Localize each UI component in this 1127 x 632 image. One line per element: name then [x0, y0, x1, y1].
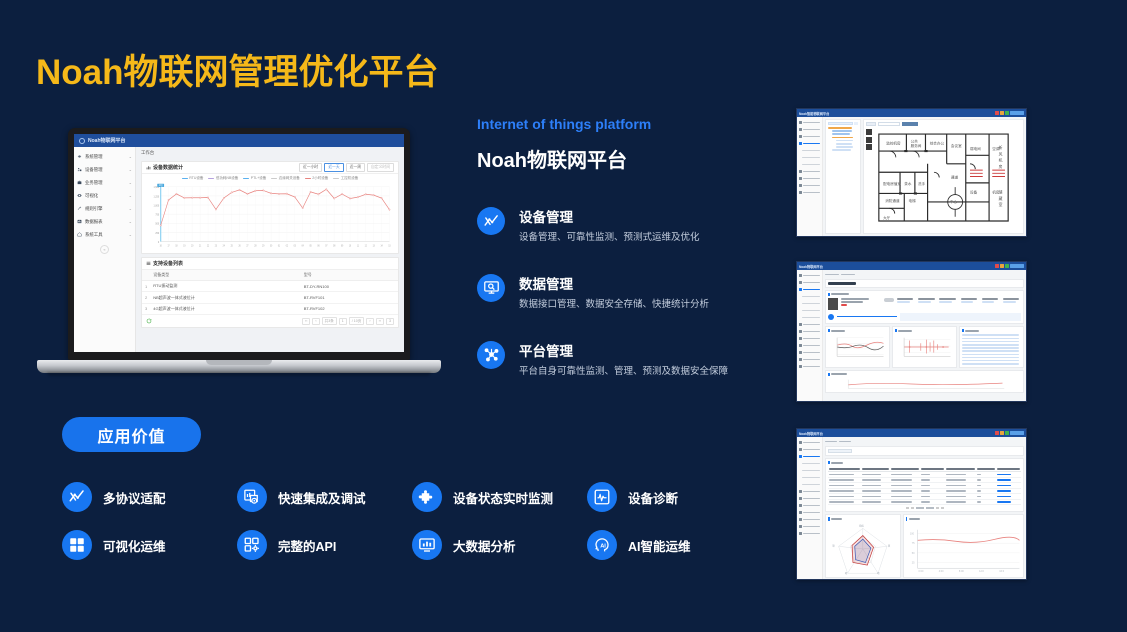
mini-line-chart	[828, 334, 887, 360]
svg-text:12: 12	[365, 245, 368, 247]
svg-text:19: 19	[183, 245, 186, 247]
screenshot-device-dashboard[interactable]: Noah物联网平台	[796, 261, 1027, 402]
device-table-panel: 支持设备列表 设备类型 型号	[141, 257, 399, 328]
sidebar-item-tools[interactable]: 系统工具 ⌄	[74, 228, 135, 241]
svg-text:01: 01	[278, 245, 281, 247]
svg-text:08: 08	[333, 245, 336, 247]
table-header-model: 型号	[301, 270, 398, 281]
row-model: BT-DY-RN100	[301, 281, 398, 292]
svg-text:02: 02	[286, 245, 289, 247]
svg-text:会议室: 会议室	[951, 143, 962, 148]
table-panel-title-group: 支持设备列表	[146, 260, 183, 267]
platform-eyebrow: Internet of things platform	[477, 116, 767, 132]
bottom-trend-card	[825, 370, 1024, 393]
screenshot-sidebar	[797, 270, 823, 401]
screenshot-title: Noah物联网平台	[799, 264, 823, 269]
nav-subrow[interactable]	[797, 314, 822, 321]
sidebar-label: 系统管理	[85, 154, 126, 160]
svg-text:28: 28	[254, 245, 257, 247]
page-input[interactable]: 1	[339, 318, 347, 325]
screenshot-title: Noah物联网平台	[799, 431, 823, 436]
mini-charts-row	[825, 326, 1024, 368]
svg-text:25: 25	[231, 245, 234, 247]
tree-panel	[825, 119, 861, 234]
page-title: Noah物联网管理优化平台	[36, 44, 439, 95]
nav-subrow[interactable]	[797, 307, 822, 314]
sidebar-item-business[interactable]: 业务管理 ⌄	[74, 176, 135, 189]
sidebar-label: 可视化	[85, 193, 126, 199]
app-body: 系统管理 ⌄ 设备管理 ⌄ 业务管理 ⌄	[74, 147, 404, 352]
log-list-card	[959, 326, 1024, 368]
card-title	[828, 517, 898, 520]
svg-text:750: 750	[155, 212, 159, 216]
svg-text:27: 27	[246, 245, 249, 247]
application-value-badge: 应用价值	[62, 417, 201, 452]
svg-text:24: 24	[223, 245, 226, 247]
nav-row-active[interactable]	[797, 453, 822, 460]
chart-panel-title: 设备数据统计	[153, 164, 183, 171]
nav-row[interactable]	[797, 495, 822, 502]
svg-text:50: 50	[911, 551, 914, 554]
svg-text:14: 14	[380, 245, 383, 247]
table-row[interactable]: 1 RTU振动监测 BT-DY-RN100	[142, 281, 398, 292]
svg-text:29: 29	[262, 245, 265, 247]
breadcrumb	[825, 439, 1024, 444]
svg-text:综合办公: 综合办公	[930, 141, 945, 146]
value-label: 快速集成及调试	[278, 488, 366, 507]
chevron-down-icon: ⌄	[129, 206, 132, 211]
chart-legend: RTU设备 低功耗NB设备 PTL+设备 边缘网关设备 2小时设备 工控机设备	[142, 174, 398, 181]
slide-root: Noah物联网管理优化平台 Noah物联网平台 系统管理 ⌄	[0, 0, 1127, 632]
nav-row[interactable]	[797, 321, 822, 328]
green-chip-icon	[1005, 264, 1009, 268]
svg-text:10: 10	[349, 245, 352, 247]
nav-row[interactable]	[797, 488, 822, 495]
svg-text:16:0: 16:0	[999, 570, 1004, 573]
platform-title: Noah物联网平台	[477, 144, 767, 173]
nav-row[interactable]	[797, 182, 822, 189]
chevron-down-icon: ⌄	[129, 167, 132, 172]
user-chip-icon	[1010, 264, 1024, 268]
pagination[interactable]	[828, 505, 1021, 509]
log-lines	[962, 334, 1021, 364]
breadcrumb	[825, 272, 1024, 277]
table-footer: ‹‹ ‹ 共3条 1 / 10页 › ›› 3	[142, 315, 398, 327]
svg-text:消防通道: 消防通道	[885, 198, 900, 203]
nav-row[interactable]	[797, 516, 822, 523]
floor-plan-canvas[interactable]: 监控机房公共服务间 综合办公会议室 配电房值班茶水洗手 消防通道电梯 大厅中心 …	[863, 119, 1024, 234]
nav-subrow[interactable]	[797, 293, 822, 300]
bottom-charts-row: 指标项项项项 0:004:008:0012:016:0 1007	[825, 514, 1024, 577]
card-title	[906, 517, 1021, 520]
card-title	[828, 373, 1021, 376]
nav-row[interactable]	[797, 272, 822, 279]
laptop-mockup: Noah物联网平台 系统管理 ⌄ 设备管理 ⌄	[37, 128, 441, 373]
nav-row[interactable]	[797, 335, 822, 342]
data-table-card	[825, 458, 1024, 512]
nav-row[interactable]	[797, 328, 822, 335]
row-type: NB超声波一体式液位计	[150, 292, 301, 303]
svg-text:11: 11	[357, 245, 360, 247]
svg-text:藏: 藏	[999, 196, 1003, 201]
svg-text:04: 04	[302, 245, 305, 247]
breadcrumb: 工作台	[136, 147, 404, 158]
table-header-index	[142, 270, 150, 281]
feature-device-management: 设备管理 设备管理、可靠性监测、预测式运维及优化	[477, 205, 767, 245]
value-label: 多协议适配	[103, 488, 166, 507]
row-type: 4G超声波一体式液位计	[150, 303, 301, 314]
screenshot-topbar: Noah物联网平台	[797, 429, 1026, 437]
breadcrumb-label: 工作台	[141, 150, 154, 156]
puzzle-icon	[412, 482, 442, 512]
app-title: Noah物联网平台	[88, 137, 126, 144]
nav-row[interactable]	[797, 189, 822, 196]
svg-text:22: 22	[207, 245, 210, 247]
screenshot-title: Noah智能物联网平台	[799, 111, 829, 116]
row-index: 2	[142, 292, 150, 303]
nav-row[interactable]	[797, 530, 822, 537]
svg-text:18: 18	[175, 245, 178, 247]
feature-data-management: 数据管理 数据接口管理、数据安全存储、快捷统计分析	[477, 272, 767, 312]
feature-text: 设备管理 设备管理、可靠性监测、预测式运维及优化	[519, 205, 700, 245]
nav-row-active[interactable]	[797, 140, 822, 147]
svg-text:监控机房: 监控机房	[886, 141, 901, 146]
nav-row[interactable]	[797, 446, 822, 453]
device-table: 设备类型 型号 1 RTU振动监测 BT-DY-RN100	[142, 270, 398, 315]
sidebar-label: 数据报表	[85, 219, 126, 225]
app-logo-icon	[79, 138, 85, 144]
svg-text:机: 机	[999, 158, 1003, 163]
card-title	[828, 293, 1021, 296]
svg-text:配电房值班: 配电房值班	[883, 181, 901, 186]
range-button-week[interactable]: 近一周	[346, 163, 365, 172]
value-item-big-data[interactable]: 大数据分析	[412, 530, 587, 560]
refresh-icon[interactable]	[146, 318, 152, 324]
nav-row[interactable]	[797, 363, 822, 370]
value-item-fast-integration[interactable]: 快速集成及调试	[237, 482, 412, 512]
page-last-button[interactable]: ››	[376, 318, 384, 325]
nav-row-active[interactable]	[797, 286, 822, 293]
red-chip-icon	[995, 431, 999, 435]
nav-row[interactable]	[797, 439, 822, 446]
line-chart: 02505007501,0001,2501,500161718192021222…	[142, 181, 398, 253]
orange-chip-icon	[1000, 431, 1004, 435]
table-row[interactable]: 3 4G超声波一体式液位计 BT-RVF102	[142, 303, 398, 314]
svg-text:30: 30	[270, 245, 273, 247]
page-next-button[interactable]: ›	[366, 318, 373, 325]
platform-info-column: Internet of things platform Noah物联网平台 设备…	[477, 116, 767, 405]
screenshot-topbar: Noah物联网平台	[797, 262, 1026, 270]
svg-text:75: 75	[911, 542, 914, 545]
red-chip-icon	[995, 111, 999, 115]
laptop-shadow	[47, 372, 431, 376]
chevron-down-icon: ⌄	[129, 232, 132, 237]
svg-text:07: 07	[325, 245, 328, 247]
sidebar-label: 业务管理	[85, 180, 126, 186]
chart-panel-header: 设备数据统计 近一小时 近一天 近一周 自定义时间	[142, 162, 398, 174]
screenshot-body: 指标项项项项 0:004:008:0012:016:0 1007	[797, 437, 1026, 579]
svg-text:洗手: 洗手	[918, 181, 926, 186]
pagination: ‹‹ ‹ 共3条 1 / 10页 › ›› 3	[302, 317, 394, 325]
svg-text:100: 100	[909, 532, 914, 535]
value-item-device-diagnosis[interactable]: 设备诊断	[587, 482, 762, 512]
svg-text:26: 26	[238, 245, 241, 247]
svg-text:项: 项	[832, 543, 835, 547]
orange-chip-icon	[1000, 264, 1004, 268]
bar-chart-icon	[146, 165, 151, 170]
orange-chip-icon	[1000, 111, 1004, 115]
nav-row[interactable]	[797, 502, 822, 509]
grid-icon	[62, 530, 92, 560]
bar-monitor-icon	[412, 530, 442, 560]
value-label: 完整的API	[278, 536, 336, 555]
green-chip-icon	[1005, 431, 1009, 435]
user-chip-icon	[1010, 111, 1024, 115]
card-title	[828, 461, 1021, 464]
window-controls	[995, 431, 1024, 435]
chevron-down-icon: ⌄	[129, 180, 132, 185]
screenshot-content: 监控机房公共服务间 综合办公会议室 配电房值班茶水洗手 消防通道电梯 大厅中心 …	[823, 117, 1026, 236]
chart-preview-icon	[237, 482, 267, 512]
nav-row[interactable]	[797, 356, 822, 363]
green-chip-icon	[1005, 111, 1009, 115]
window-controls	[995, 111, 1024, 115]
svg-text:0:00: 0:00	[918, 570, 923, 573]
trend-chart-card: 0:004:008:0012:016:0 100755025	[903, 514, 1024, 577]
blocks-gear-icon	[237, 530, 267, 560]
app-topbar: Noah物联网平台	[74, 134, 404, 147]
sidebar-item-reports[interactable]: 数据报表 ⌄	[74, 215, 135, 228]
svg-text:8:00: 8:00	[958, 570, 963, 573]
svg-text:风: 风	[999, 152, 1003, 156]
card-title	[895, 329, 954, 332]
briefcase-icon	[77, 180, 82, 185]
screenshot-body: 监控机房公共服务间 综合办公会议室 配电房值班茶水洗手 消防通道电梯 大厅中心 …	[797, 117, 1026, 236]
red-chip-icon	[995, 264, 999, 268]
nav-row[interactable]	[797, 175, 822, 182]
row-model: BT-RVF101	[301, 292, 398, 303]
nav-subrow[interactable]	[797, 460, 822, 467]
row-type: RTU振动监测	[150, 281, 301, 292]
tools-icon	[77, 232, 82, 237]
screenshot-topbar: Noah智能物联网平台	[797, 109, 1026, 117]
time-range-buttons: 近一小时 近一天 近一周 自定义时间	[299, 163, 394, 172]
value-label: 设备诊断	[628, 488, 678, 507]
svg-text:12:0: 12:0	[979, 570, 984, 573]
table-header-type: 设备类型	[150, 270, 301, 281]
mini-spike-chart	[895, 334, 954, 360]
card-title	[962, 329, 1021, 332]
sidebar-label: 规则引擎	[85, 206, 126, 212]
nav-row[interactable]	[797, 349, 822, 356]
table-row[interactable]: 2 NB超声波一体式液位计 BT-RVF101	[142, 292, 398, 303]
nav-row[interactable]	[797, 119, 822, 126]
wrench-icon	[77, 206, 82, 211]
nav-row[interactable]	[797, 279, 822, 286]
page-count-label: 共3条	[322, 317, 337, 325]
svg-text:16: 16	[160, 245, 163, 247]
list-icon	[146, 261, 151, 266]
svg-text:储: 储	[999, 189, 1003, 194]
range-button-custom[interactable]: 自定义时间	[367, 163, 394, 172]
sidebar-label: 系统工具	[85, 232, 126, 238]
laptop-screen: Noah物联网平台 系统管理 ⌄ 设备管理 ⌄	[74, 134, 404, 352]
feature-platform-management: 平台管理 平台自身可靠性监测、管理、预测及数据安全保障	[477, 339, 767, 379]
svg-text:16日: 16日	[159, 184, 163, 187]
value-item-visual-ops[interactable]: 可视化运维	[62, 530, 237, 560]
chevron-down-icon: ⌄	[129, 193, 132, 198]
screenshot-sidebar	[797, 437, 823, 579]
svg-text:23: 23	[215, 245, 218, 247]
svg-text:1,250: 1,250	[154, 194, 160, 198]
user-chip-icon	[1010, 431, 1024, 435]
ai-head-icon: AI	[587, 530, 617, 560]
chart-panel-title-group: 设备数据统计	[146, 164, 183, 171]
svg-text:服务间: 服务间	[911, 143, 922, 148]
data-monitor-icon	[477, 274, 505, 302]
svg-text:13: 13	[373, 245, 376, 247]
svg-text:项: 项	[888, 543, 891, 547]
card-title	[828, 329, 887, 332]
feature-name: 数据管理	[519, 273, 709, 293]
svg-text:25: 25	[911, 561, 914, 564]
screenshot-table-analytics[interactable]: Noah物联网平台	[796, 428, 1027, 580]
trend-chart-icon	[62, 482, 92, 512]
device-summary-card	[825, 290, 1024, 324]
report-icon	[77, 219, 82, 224]
app-main: 工作台 设备数据统计 近一小时 近一天	[136, 147, 404, 352]
svg-text:中心: 中心	[950, 199, 958, 204]
table-panel-title: 支持设备列表	[153, 260, 183, 267]
radar-chart: 指标项项项项	[828, 523, 898, 575]
nav-subrow[interactable]	[797, 300, 822, 307]
range-button-day[interactable]: 近一天	[324, 163, 343, 172]
eye-icon	[77, 193, 82, 198]
sidebar-collapse-button[interactable]: «	[100, 245, 109, 254]
wide-line-chart	[828, 378, 1021, 390]
svg-text:新: 新	[999, 145, 1003, 150]
feature-text: 数据管理 数据接口管理、数据安全存储、快捷统计分析	[519, 272, 709, 312]
nav-row[interactable]	[797, 126, 822, 133]
screenshot-content	[823, 270, 1026, 401]
page-total-label: / 10页	[349, 317, 365, 325]
feature-text: 平台管理 平台自身可靠性监测、管理、预测及数据安全保障	[519, 339, 728, 379]
nav-row[interactable]	[797, 342, 822, 349]
value-label: AI智能运维	[628, 536, 691, 555]
app-sidebar: 系统管理 ⌄ 设备管理 ⌄ 业务管理 ⌄	[74, 147, 136, 352]
svg-text:弱电间: 弱电间	[970, 146, 981, 151]
svg-text:通道: 通道	[951, 175, 959, 180]
page-first-button[interactable]: ‹‹	[302, 318, 310, 325]
nav-subrow[interactable]	[797, 474, 822, 481]
sidebar-item-device[interactable]: 设备管理 ⌄	[74, 163, 135, 176]
svg-text:指标: 指标	[859, 523, 864, 527]
table-row[interactable]	[828, 499, 1021, 504]
laptop-notch	[206, 360, 272, 365]
svg-text:设备: 设备	[970, 189, 978, 194]
svg-text:室: 室	[999, 202, 1003, 207]
page-header-card	[825, 279, 1024, 288]
value-item-realtime-monitoring[interactable]: 设备状态实时监测	[412, 482, 587, 512]
chevron-down-icon: ⌄	[129, 219, 132, 224]
nav-subrow[interactable]	[797, 467, 822, 474]
svg-text:03: 03	[294, 245, 297, 247]
nav-row[interactable]	[797, 168, 822, 175]
value-item-ai-ops[interactable]: AI AI智能运维	[587, 530, 762, 560]
sidebar-item-system[interactable]: 系统管理 ⌄	[74, 150, 135, 163]
svg-text:17: 17	[167, 245, 170, 247]
nav-subrow[interactable]	[797, 481, 822, 488]
value-label: 可视化运维	[103, 536, 166, 555]
value-label: 大数据分析	[453, 536, 516, 555]
svg-text:茶水: 茶水	[904, 181, 912, 186]
nav-subrow[interactable]	[797, 154, 822, 161]
nav-subrow[interactable]	[797, 147, 822, 154]
feature-desc: 设备管理、可靠性监测、预测式运维及优化	[519, 231, 700, 245]
range-button-hour[interactable]: 近一小时	[299, 163, 322, 172]
value-item-complete-api[interactable]: 完整的API	[237, 530, 412, 560]
svg-text:电梯: 电梯	[909, 198, 917, 203]
screenshot-floor-plan[interactable]: Noah智能物联网平台	[796, 108, 1027, 237]
value-label: 设备状态实时监测	[453, 488, 553, 507]
feature-name: 设备管理	[519, 206, 700, 226]
row-model: BT-RVF102	[301, 303, 398, 314]
waveform-icon	[587, 482, 617, 512]
svg-text:房: 房	[999, 164, 1003, 169]
table-panel-header: 支持设备列表	[142, 258, 398, 270]
window-controls	[995, 264, 1024, 268]
svg-text:06: 06	[317, 245, 320, 247]
trend-chart-icon	[477, 207, 505, 235]
radar-chart-card: 指标项项项项	[825, 514, 901, 577]
nav-row[interactable]	[797, 523, 822, 530]
feature-name: 平台管理	[519, 340, 728, 360]
screenshot-content: 指标项项项项 0:004:008:0012:016:0 1007	[823, 437, 1026, 579]
screenshot-body	[797, 270, 1026, 401]
gear-icon	[77, 154, 82, 159]
page-size-select[interactable]: 3	[386, 318, 394, 325]
signal-chart-card	[892, 326, 957, 368]
nav-row[interactable]	[797, 509, 822, 516]
svg-text:1,000: 1,000	[154, 203, 160, 207]
svg-text:250: 250	[155, 231, 159, 235]
page-prev-button[interactable]: ‹	[312, 318, 319, 325]
laptop-lid: Noah物联网平台 系统管理 ⌄ 设备管理 ⌄	[68, 128, 410, 360]
table-header-row: 设备类型 型号	[142, 270, 398, 281]
analytics-table	[828, 466, 1021, 505]
svg-text:500: 500	[155, 221, 159, 225]
value-items-grid: 多协议适配 快速集成及调试 设备状态实时监测	[62, 482, 762, 560]
row-index: 1	[142, 281, 150, 292]
value-item-multi-protocol[interactable]: 多协议适配	[62, 482, 237, 512]
svg-text:20: 20	[191, 245, 194, 247]
svg-text:AI: AI	[600, 544, 606, 550]
sidebar-item-rules[interactable]: 规则引擎 ⌄	[74, 202, 135, 215]
sidebar-label: 设备管理	[85, 167, 126, 173]
sidebar-item-visual[interactable]: 可视化 ⌄	[74, 189, 135, 202]
feature-desc: 数据接口管理、数据安全存储、快捷统计分析	[519, 298, 709, 312]
nav-row[interactable]	[797, 133, 822, 140]
svg-text:15: 15	[388, 245, 391, 247]
floor-plan-drawing: 监控机房公共服务间 综合办公会议室 配电房值班茶水洗手 消防通道电梯 大厅中心 …	[864, 120, 1023, 233]
svg-text:4:00: 4:00	[938, 570, 943, 573]
line-chart: 0:004:008:0012:016:0 100755025	[906, 523, 1021, 575]
svg-text:大厅: 大厅	[883, 215, 891, 220]
tree-lines	[828, 127, 858, 151]
chart-panel: 设备数据统计 近一小时 近一天 近一周 自定义时间 RTU设	[141, 161, 399, 254]
svg-text:05: 05	[309, 245, 312, 247]
nav-subrow[interactable]	[797, 161, 822, 168]
